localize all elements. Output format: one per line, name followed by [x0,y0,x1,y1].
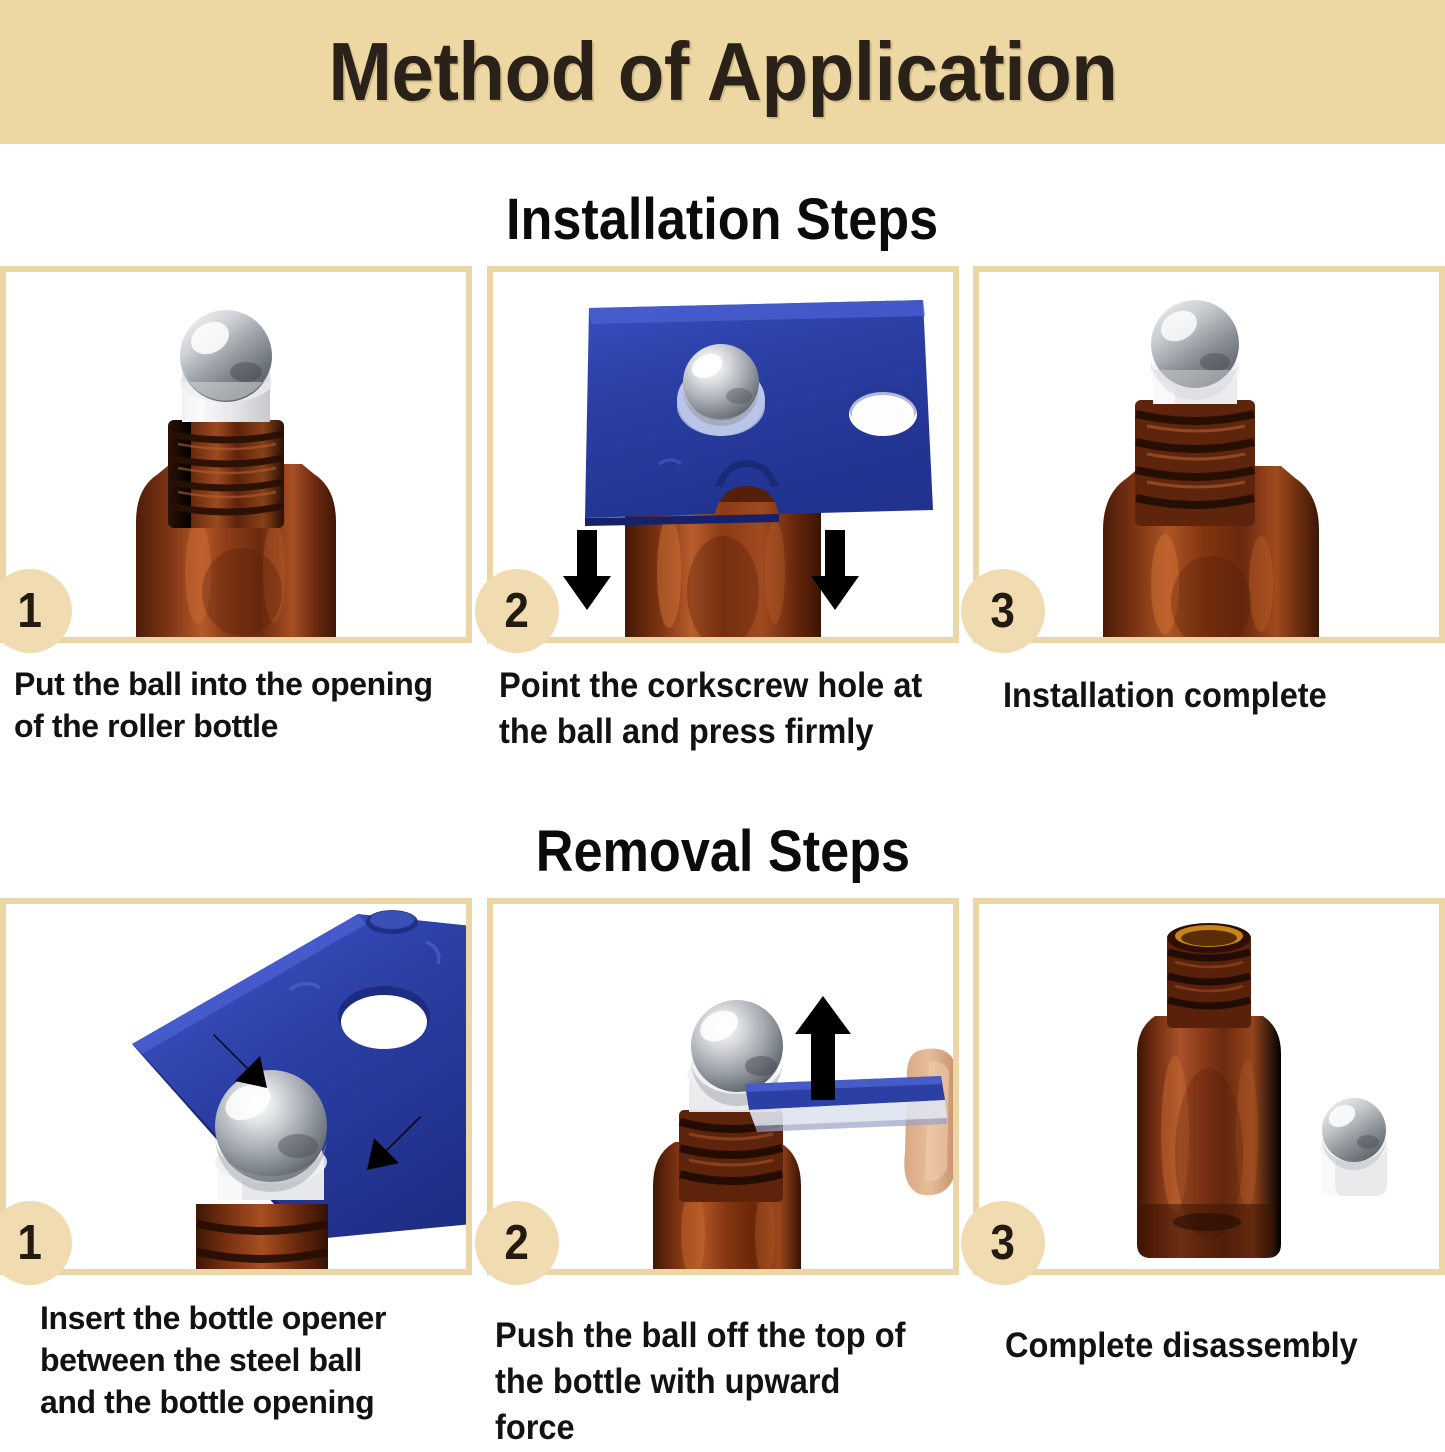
step-removal-1-photo [6,904,466,1269]
section-heading-installation: Installation Steps [0,186,1445,253]
bottle-and-insert-separated-illustration [979,904,1439,1269]
step-install-3-caption: Installation complete [973,673,1445,719]
caption-line: between the steel ball [40,1339,472,1381]
step-install-3-image-panel: 3 [973,266,1445,643]
step-badge-removal-1-number: 1 [18,1219,43,1268]
step-badge-install-1-number: 1 [18,587,43,636]
caption-line: Put the ball into the opening [14,663,472,705]
step-install-1-caption: Put the ball into the opening of the rol… [0,663,472,747]
step-removal-2-caption: Push the ball off the top of the bottle … [487,1313,959,1452]
header-banner: Method of Application [0,0,1445,144]
installed-roller-ball-illustration [979,272,1439,637]
step-removal-1-caption: Insert the bottle opener between the ste… [0,1297,472,1424]
caption-line: Point the corkscrew hole at [499,663,922,709]
caption-line: of the roller bottle [14,705,472,747]
page-title: Method of Application [328,24,1117,120]
step-install-2-image-panel: 2 [487,266,959,643]
step-install-2-photo [493,272,953,637]
caption-line: the ball and press firmly [499,709,873,755]
step-install-1-photo [6,272,466,637]
step-removal-3-photo [979,904,1439,1269]
section-heading-removal-label: Removal Steps [535,818,909,885]
installation-steps-row: 1 Put the ball into the opening of the r… [0,266,1445,755]
step-install-2: 2 Point the corkscrew hole at the ball a… [487,266,959,755]
step-badge-install-2-number: 2 [504,587,529,636]
step-removal-2-image-panel: 2 [487,898,959,1275]
step-install-3-photo [979,272,1439,637]
step-install-3: 3 Installation complete [973,266,1445,755]
step-removal-3: 3 Complete disassembly [973,898,1445,1452]
caption-line: Complete disassembly [1005,1323,1358,1369]
step-install-1: 1 Put the ball into the opening of the r… [0,266,472,755]
step-install-1-image-panel: 1 [0,266,472,643]
step-removal-2-photo [493,904,953,1269]
step-removal-3-caption: Complete disassembly [973,1323,1445,1369]
step-badge-install-3-number: 3 [991,587,1016,636]
ball-levered-upward-illustration [493,904,953,1269]
step-badge-install-2: 2 [475,569,559,653]
step-badge-removal-3: 3 [961,1201,1045,1285]
blue-opener-pressing-ball-illustration [493,272,953,637]
removal-steps-row: 1 Insert the bottle opener between the s… [0,898,1445,1452]
caption-line: Insert the bottle opener [40,1297,472,1339]
step-removal-2: 2 Push the ball off the top of the bottl… [487,898,959,1452]
step-removal-1: 1 Insert the bottle opener between the s… [0,898,472,1452]
step-removal-1-image-panel: 1 [0,898,472,1275]
section-heading-removal: Removal Steps [0,818,1445,885]
caption-line: Installation complete [1003,673,1327,719]
section-heading-installation-label: Installation Steps [506,186,938,253]
step-badge-removal-3-number: 3 [991,1219,1016,1268]
caption-line: and the bottle opening [40,1381,472,1423]
step-install-2-caption: Point the corkscrew hole at the ball and… [487,663,959,755]
step-badge-removal-2: 2 [475,1201,559,1285]
step-removal-3-image-panel: 3 [973,898,1445,1275]
caption-line: Push the ball off the top of [495,1313,905,1359]
step-badge-install-3: 3 [961,569,1045,653]
caption-line: the bottle with upward force [495,1359,927,1451]
opener-wedged-under-ball-illustration [6,904,466,1269]
roller-ball-above-bottle-neck-illustration [6,272,466,637]
step-badge-removal-2-number: 2 [504,1219,529,1268]
